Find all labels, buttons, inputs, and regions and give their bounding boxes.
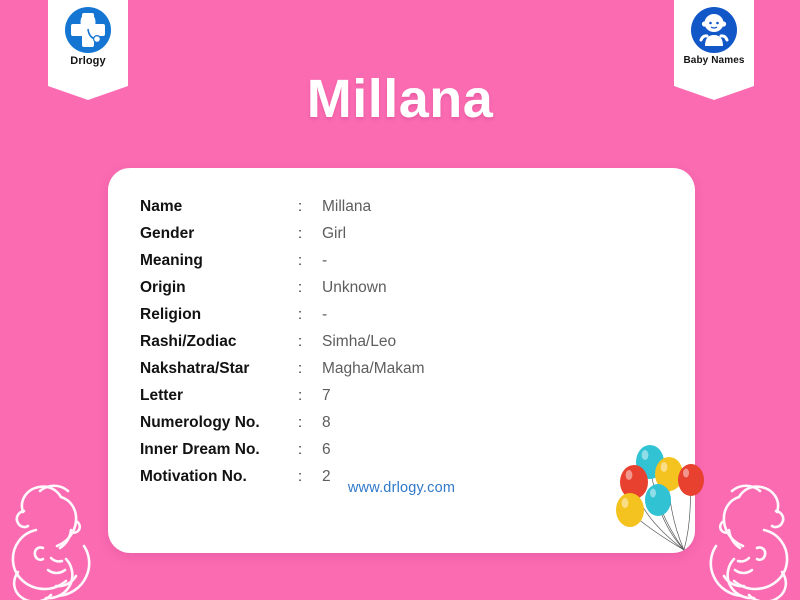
- table-row: Numerology No. : 8: [140, 409, 425, 436]
- row-label: Gender: [140, 220, 298, 247]
- balloon-cluster-icon: [612, 438, 712, 556]
- table-row: Meaning : -: [140, 247, 425, 274]
- row-separator: :: [298, 409, 322, 436]
- row-label: Meaning: [140, 247, 298, 274]
- row-label: Numerology No.: [140, 409, 298, 436]
- row-label: Name: [140, 193, 298, 220]
- mother-and-baby-left-icon: [0, 460, 111, 600]
- table-row: Nakshatra/Star : Magha/Makam: [140, 355, 425, 382]
- drlogy-badge-label: Drlogy: [52, 56, 124, 67]
- row-value: Unknown: [322, 274, 425, 301]
- table-row: Letter : 7: [140, 382, 425, 409]
- row-separator: :: [298, 301, 322, 328]
- row-separator: :: [298, 274, 322, 301]
- website-link[interactable]: www.drlogy.com: [108, 480, 695, 496]
- row-label: Nakshatra/Star: [140, 355, 298, 382]
- baby-name-card-page: Drlogy Baby Names Millana Name :: [0, 0, 800, 600]
- row-value: Simha/Leo: [322, 328, 425, 355]
- baby-names-logo-icon: [691, 7, 737, 53]
- row-label: Religion: [140, 301, 298, 328]
- baby-names-badge-label: Baby Names: [678, 56, 750, 66]
- row-value: -: [322, 247, 425, 274]
- page-title: Millana: [0, 68, 800, 130]
- row-separator: :: [298, 193, 322, 220]
- row-value: 7: [322, 382, 425, 409]
- table-row: Origin : Unknown: [140, 274, 425, 301]
- row-value: Magha/Makam: [322, 355, 425, 382]
- name-details-card: Name : Millana Gender : Girl Meaning : -…: [108, 168, 695, 553]
- drlogy-logo-icon: [65, 7, 111, 53]
- row-value: Millana: [322, 193, 425, 220]
- row-label: Letter: [140, 382, 298, 409]
- row-label: Origin: [140, 274, 298, 301]
- table-row: Rashi/Zodiac : Simha/Leo: [140, 328, 425, 355]
- row-separator: :: [298, 247, 322, 274]
- row-separator: :: [298, 436, 322, 463]
- row-value: -: [322, 301, 425, 328]
- row-value: Girl: [322, 220, 425, 247]
- row-separator: :: [298, 382, 322, 409]
- row-separator: :: [298, 355, 322, 382]
- row-label: Inner Dream No.: [140, 436, 298, 463]
- name-details-table: Name : Millana Gender : Girl Meaning : -…: [140, 193, 425, 490]
- table-row: Religion : -: [140, 301, 425, 328]
- row-label: Rashi/Zodiac: [140, 328, 298, 355]
- row-value: 6: [322, 436, 425, 463]
- table-row: Name : Millana: [140, 193, 425, 220]
- row-separator: :: [298, 328, 322, 355]
- table-row: Gender : Girl: [140, 220, 425, 247]
- table-row: Inner Dream No. : 6: [140, 436, 425, 463]
- row-separator: :: [298, 220, 322, 247]
- row-value: 8: [322, 409, 425, 436]
